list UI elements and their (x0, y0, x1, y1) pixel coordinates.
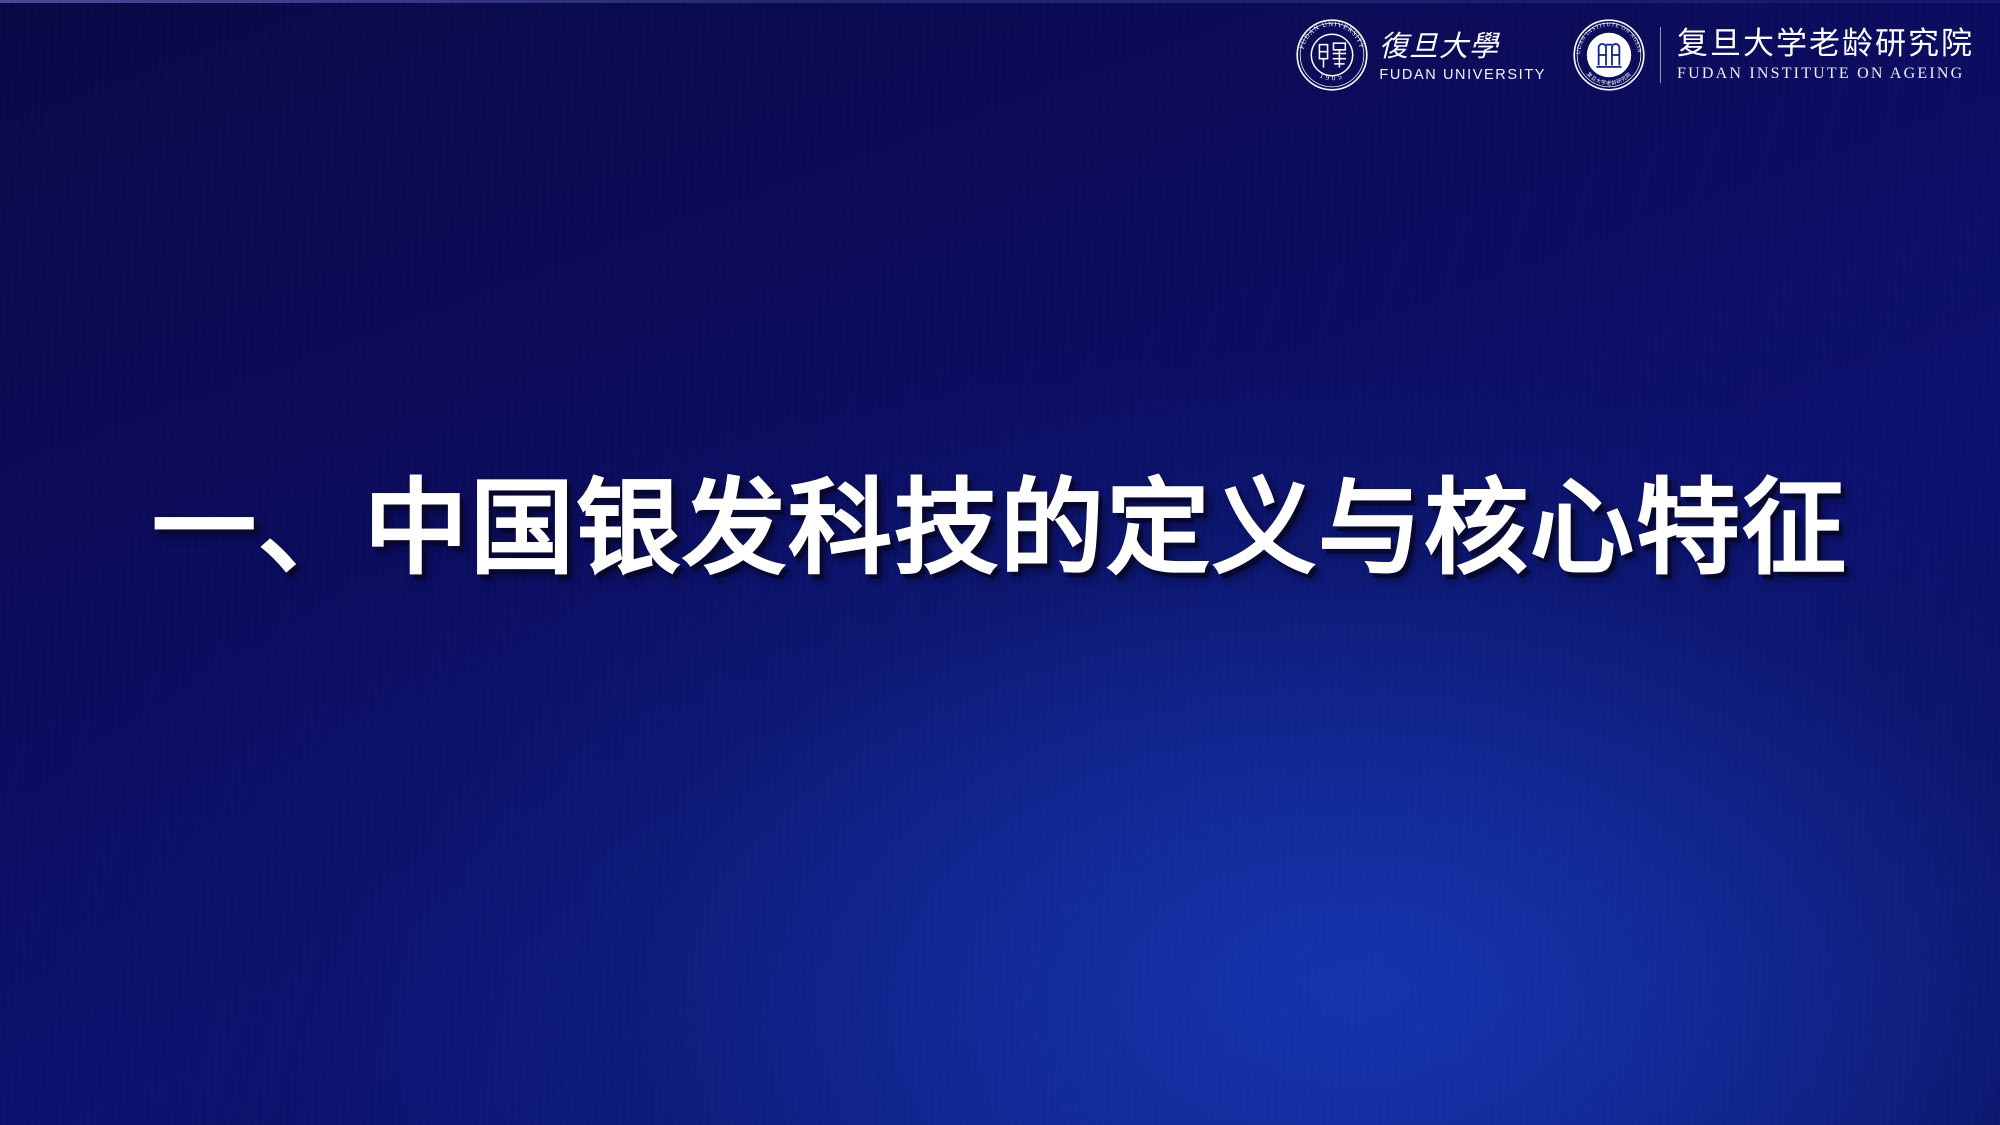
fudan-institute-on-ageing-wordmark: 复旦大学老龄研究院 FUDAN INSTITUTE ON AGEING (1677, 28, 1974, 82)
slide-title: 一、中国银发科技的定义与核心特征 (152, 468, 1848, 591)
fia-english-wordmark: FUDAN INSTITUTE ON AGEING (1677, 66, 1964, 82)
fudan-university-logo: FUDAN UNIVERSITY 1905 (1295, 18, 1546, 92)
slide-title-container: 一、中国银发科技的定义与核心特征 (0, 398, 2000, 660)
fudan-university-wordmark: 復旦大學 FUDAN UNIVERSITY (1379, 28, 1546, 83)
logo-divider (1660, 27, 1661, 83)
fia-chinese-wordmark: 复旦大学老龄研究院 (1677, 28, 1974, 61)
svg-text:1905: 1905 (1319, 71, 1346, 83)
fudan-university-seal-icon: FUDAN UNIVERSITY 1905 (1295, 18, 1369, 92)
fudan-university-english-wordmark: FUDAN UNIVERSITY (1379, 68, 1546, 83)
fudan-institute-on-ageing-logo: FUDAN INSTITUTE ON AGEING 复旦大学老龄研究院 复旦大学… (1572, 18, 1974, 92)
logo-bar: FUDAN UNIVERSITY 1905 (1295, 18, 1974, 92)
svg-text:復旦大學: 復旦大學 (1379, 31, 1501, 63)
presentation-slide: FUDAN UNIVERSITY 1905 (0, 0, 2000, 1125)
svg-text:FUDAN UNIVERSITY: FUDAN UNIVERSITY (1299, 21, 1365, 50)
fudan-institute-on-ageing-seal-icon: FUDAN INSTITUTE ON AGEING 复旦大学老龄研究院 (1572, 18, 1646, 92)
fudan-university-chinese-wordmark-icon: 復旦大學 (1379, 28, 1511, 64)
